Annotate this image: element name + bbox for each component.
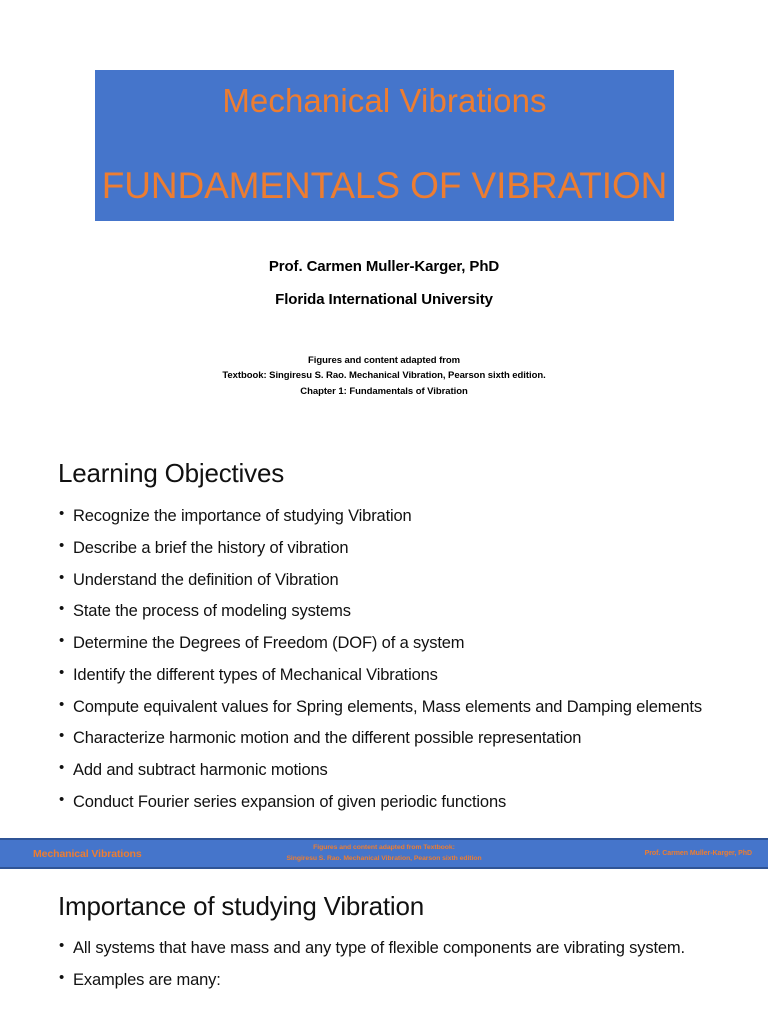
learning-objectives-heading: Learning Objectives: [58, 458, 284, 489]
course-title: Mechanical Vibrations: [222, 84, 546, 117]
list-item: Understand the definition of Vibration: [58, 570, 706, 591]
source-attribution-block: Figures and content adapted from Textboo…: [0, 353, 768, 399]
list-item: Add and subtract harmonic motions: [58, 760, 706, 781]
list-item: Characterize harmonic motion and the dif…: [58, 728, 706, 749]
slide-footer-bar: Mechanical Vibrations Figures and conten…: [0, 838, 768, 869]
list-item: Determine the Degrees of Freedom (DOF) o…: [58, 633, 706, 654]
list-item: Compute equivalent values for Spring ele…: [58, 697, 706, 718]
title-banner: Mechanical Vibrations FUNDAMENTALS OF VI…: [95, 70, 674, 221]
list-item: Identify the different types of Mechanic…: [58, 665, 706, 686]
list-item: State the process of modeling systems: [58, 601, 706, 622]
learning-objectives-list: Recognize the importance of studying Vib…: [58, 506, 706, 824]
slide-title-and-objectives: Mechanical Vibrations FUNDAMENTALS OF VI…: [0, 0, 768, 838]
author-affiliation: Florida International University: [0, 290, 768, 310]
author-name: Prof. Carmen Muller-Karger, PhD: [0, 257, 768, 277]
list-item: Examples are many:: [58, 970, 706, 991]
importance-heading: Importance of studying Vibration: [58, 891, 424, 922]
footer-author: Prof. Carmen Muller-Karger, PhD: [645, 850, 752, 857]
list-item: All systems that have mass and any type …: [58, 938, 706, 959]
chapter-title: FUNDAMENTALS OF VIBRATION: [102, 167, 668, 204]
list-item: Describe a brief the history of vibratio…: [58, 538, 706, 559]
source-line-2: Textbook: Singiresu S. Rao. Mechanical V…: [0, 368, 768, 383]
list-item: Conduct Fourier series expansion of give…: [58, 792, 706, 813]
source-line-3: Chapter 1: Fundamentals of Vibration: [0, 384, 768, 399]
list-item: Recognize the importance of studying Vib…: [58, 506, 706, 527]
slide-importance-of-vibration: Importance of studying Vibration All sys…: [0, 869, 768, 1024]
importance-bullet-list: All systems that have mass and any type …: [58, 938, 706, 1002]
author-block: Prof. Carmen Muller-Karger, PhD Florida …: [0, 257, 768, 311]
source-line-1: Figures and content adapted from: [0, 353, 768, 368]
